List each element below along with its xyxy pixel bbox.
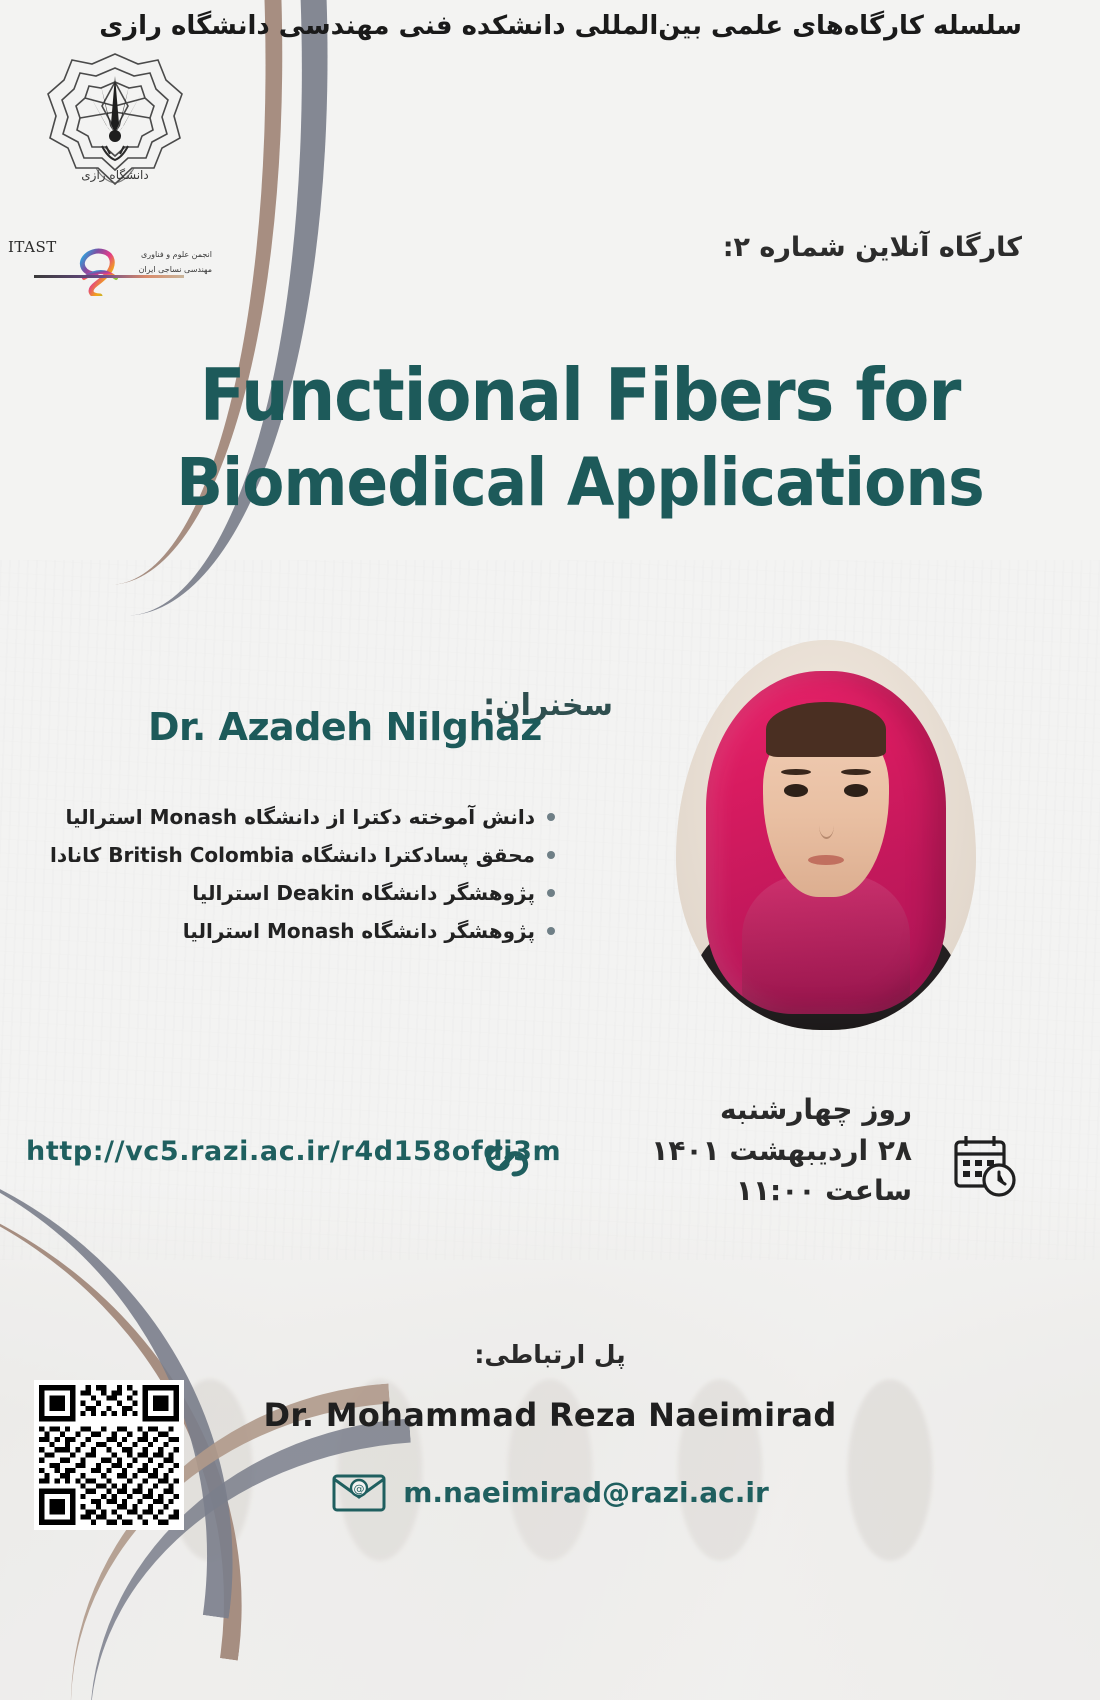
list-item: پژوهشگر دانشگاه Monash استرالیا	[25, 919, 555, 943]
credential-text: پژوهشگر دانشگاه Monash استرالیا	[183, 919, 535, 943]
avatar	[676, 640, 976, 1030]
itast-persian-name: انجمن علوم و فناوری مهندسی نساجی ایران	[120, 247, 212, 277]
speaker-portrait	[676, 640, 976, 1030]
portrait-hair	[766, 702, 886, 757]
itast-fa-line-2: مهندسی نساجی ایران	[120, 262, 212, 277]
bullet-dot-icon	[547, 889, 555, 897]
workshop-number-label: کارگاه آنلاین شماره ۲:	[723, 232, 1022, 263]
event-date: ۲۸ اردیبهشت ۱۴۰۱	[492, 1131, 912, 1172]
portrait-lips	[808, 855, 844, 865]
itast-fa-line-1: انجمن علوم و فناوری	[120, 247, 212, 262]
event-time: ساعت ۱۱:۰۰	[492, 1171, 912, 1212]
contact-email[interactable]: m.naeimirad@razi.ac.ir	[403, 1476, 769, 1509]
portrait-scarf-fold	[742, 874, 910, 1030]
portrait-eye-right	[844, 784, 868, 796]
envelope-at-icon: @	[331, 1470, 387, 1514]
bullet-dot-icon	[547, 927, 555, 935]
event-day: روز چهارشنبه	[492, 1090, 912, 1131]
portrait-eyebrow-right	[841, 769, 871, 775]
contact-label: پل ارتباطی:	[0, 1340, 1100, 1369]
list-item: محقق پسادکترا دانشگاه British Colombia ک…	[25, 843, 555, 867]
title-line-2: Biomedical Applications	[96, 448, 1063, 517]
itast-acronym: ITAST	[8, 238, 57, 256]
bullet-dot-icon	[547, 851, 555, 859]
title-line-1: Functional Fibers for	[96, 358, 1063, 434]
poster-title: Functional Fibers for Biomedical Applica…	[0, 358, 1100, 517]
speaker-credentials-list: دانش آموخته دکترا از دانشگاه Monash استر…	[25, 805, 555, 957]
portrait-eyebrow-left	[781, 769, 811, 775]
credential-text: پژوهشگر دانشگاه Deakin استرالیا	[192, 881, 535, 905]
razi-logo-caption: دانشگاه رازی	[40, 168, 190, 182]
list-item: دانش آموخته دکترا از دانشگاه Monash استر…	[25, 805, 555, 829]
bullet-dot-icon	[547, 813, 555, 821]
calendar-clock-icon	[948, 1128, 1022, 1202]
svg-text:@: @	[354, 1483, 365, 1496]
poster-canvas: سلسله کارگاه‌های علمی بین‌المللی دانشکده…	[0, 0, 1100, 1700]
series-title: سلسله کارگاه‌های علمی بین‌المللی دانشکده…	[0, 10, 1022, 44]
portrait-nose	[819, 812, 834, 839]
list-item: پژوهشگر دانشگاه Deakin استرالیا	[25, 881, 555, 905]
header-banner: سلسله کارگاه‌های علمی بین‌المللی دانشکده…	[0, 10, 1100, 44]
speaker-name: Dr. Azadeh Nilghaz	[148, 705, 542, 749]
portrait-eye-left	[784, 784, 808, 796]
credential-text: دانش آموخته دکترا از دانشگاه Monash استر…	[65, 805, 535, 829]
event-date-block: روز چهارشنبه ۲۸ اردیبهشت ۱۴۰۱ ساعت ۱۱:۰۰	[492, 1090, 912, 1212]
qr-code[interactable]	[34, 1380, 184, 1530]
credential-text: محقق پسادکترا دانشگاه British Colombia ک…	[50, 843, 535, 867]
